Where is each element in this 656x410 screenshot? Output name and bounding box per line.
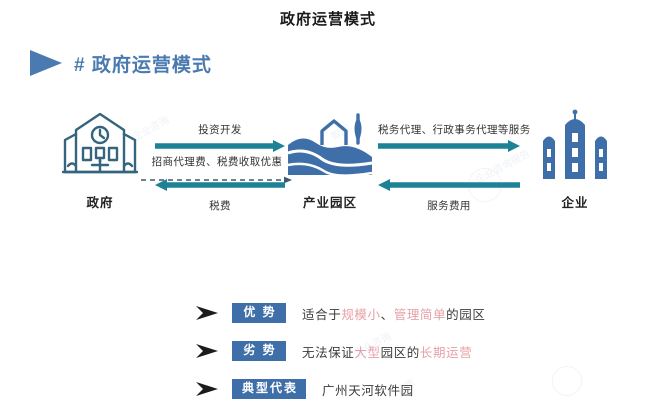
list-item-advantage: 优 势 适合于规模小、管理简单的园区	[196, 294, 636, 332]
node-government: 政府	[45, 108, 155, 211]
badge-typical-example: 典型代表	[232, 379, 306, 400]
bullet-arrow-icon	[196, 381, 222, 397]
arrow-invest-develop: 投资开发	[155, 122, 285, 157]
bullet-arrow-icon	[196, 343, 222, 359]
hash-symbol: #	[74, 55, 86, 76]
summary-list: 优 势 适合于规模小、管理简单的园区 劣 势 无法保证大型园区的长期运营 典型代…	[196, 294, 636, 408]
government-building-icon	[45, 108, 155, 186]
highlighted-text: 管理简单	[394, 308, 446, 322]
arrow-left-solid-icon	[155, 179, 285, 191]
plain-text: 适合于	[302, 308, 341, 322]
page-title: 政府运营模式	[0, 8, 656, 29]
list-item-typical-example: 典型代表 广州天河软件园	[196, 370, 636, 408]
arrow-right-solid-icon-2	[378, 140, 520, 152]
list-item-text-disadvantage: 无法保证大型园区的长期运营	[302, 342, 472, 361]
node-label-enterprise: 企业	[520, 192, 630, 211]
slide-canvas: 政府运营模式 # 政府运营模式	[0, 0, 656, 410]
section-heading-text-group: # 政府运营模式	[74, 50, 212, 77]
arrow-label-invest-develop: 投资开发	[155, 122, 285, 137]
plain-text: 无法保证	[302, 346, 354, 360]
section-heading: # 政府运营模式	[28, 48, 212, 78]
highlighted-text: 规模小	[341, 308, 380, 322]
node-label-government: 政府	[45, 192, 155, 211]
flow-diagram: 政府 产业园区	[0, 108, 656, 223]
section-heading-label: 政府运营模式	[92, 55, 212, 76]
arrow-label-agency-fee-tax-discount: 招商代理费、税费收取优惠	[141, 154, 293, 169]
bullet-arrow-icon	[196, 305, 222, 321]
list-item-text-advantage: 适合于规模小、管理简单的园区	[302, 304, 485, 323]
list-item-disadvantage: 劣 势 无法保证大型园区的长期运营	[196, 332, 636, 370]
badge-disadvantage: 劣 势	[232, 341, 286, 362]
badge-advantage: 优 势	[232, 303, 286, 324]
arrow-label-tax-admin-agency-services: 税务代理、行政事务代理等服务	[378, 122, 520, 137]
list-item-text-typical-example: 广州天河软件园	[322, 380, 414, 399]
enterprise-buildings-icon	[520, 108, 630, 186]
highlighted-text: 大型	[354, 346, 380, 360]
arrow-tax-admin-agency-services: 税务代理、行政事务代理等服务	[378, 122, 520, 157]
arrow-left-solid-icon-2	[378, 179, 520, 191]
plain-text: 、	[381, 308, 394, 322]
plain-text: 的园区	[446, 308, 485, 322]
arrow-label-taxes: 税费	[155, 198, 285, 213]
arrow-label-service-fee: 服务费用	[378, 198, 520, 213]
play-triangle-icon	[28, 48, 64, 78]
arrow-taxes: 税费	[155, 178, 285, 213]
arrow-service-fee: 服务费用	[378, 178, 520, 213]
highlighted-text: 长期运营	[420, 346, 472, 360]
arrow-right-solid-icon	[155, 140, 285, 152]
plain-text: 广州天河软件园	[322, 384, 414, 398]
plain-text: 园区的	[381, 346, 420, 360]
node-label-industrial-park: 产业园区	[275, 192, 385, 211]
node-enterprise: 企业	[520, 108, 630, 211]
